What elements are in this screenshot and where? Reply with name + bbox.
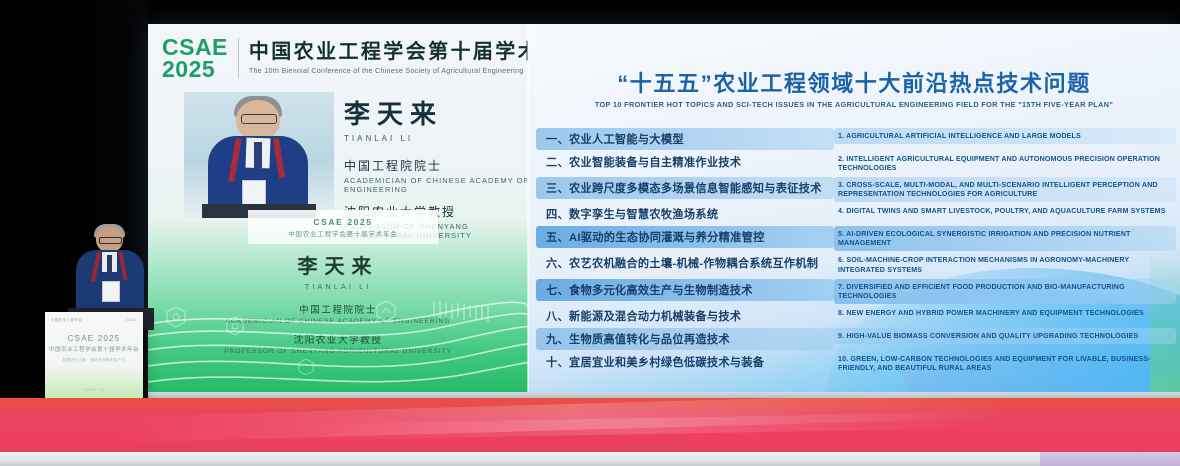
topic-cn: 三、农业跨尺度多模态多场景信息智能感知与表征技术 — [536, 177, 834, 199]
overlay-name-cn: 李天来 — [344, 94, 528, 131]
list-item: 二、农业智能装备与自主精准作业技术 2. INTELLIGENT AGRICUL… — [536, 151, 1176, 176]
topic-cn: 六、农艺农机融合的土壤-机械-作物耦合系统互作机制 — [536, 252, 834, 274]
topic-en: 3. CROSS-SCALE, MULTI-MODAL, AND MULTI-S… — [834, 177, 1176, 202]
topic-cn: 五、AI驱动的生态协同灌溉与养分精准管控 — [536, 226, 834, 248]
podium-mini-left: 中国农业工程学会 — [51, 318, 82, 323]
list-item: 一、农业人工智能与大模型 1. AGRICULTURAL ARTIFICIAL … — [536, 128, 1176, 150]
list-item: 四、数字孪生与智慧农牧渔场系统 4. DIGITAL TWINS AND SMA… — [536, 203, 1176, 225]
stage-front-edge — [0, 452, 1180, 466]
podium-mini-right: CSAE — [126, 318, 137, 323]
topic-en: 4. DIGITAL TWINS AND SMART LIVESTOCK, PO… — [834, 203, 1176, 219]
screen-panel-left: CSAE 2025 中国农业工程学会第十届学术年会 The 10th Bienn… — [148, 24, 528, 398]
conference-title-cn: 中国农业工程学会第十届学术年会 — [249, 42, 528, 63]
portrait-glasses — [241, 114, 277, 124]
credit-name-cn: 李天来 — [148, 250, 528, 279]
slide-title: “十五五”农业工程领域十大前沿热点技术问题 — [528, 66, 1180, 98]
topic-cn: 一、农业人工智能与大模型 — [536, 128, 834, 150]
led-screen-wall: CSAE 2025 中国农业工程学会第十届学术年会 The 10th Bienn… — [148, 24, 1180, 398]
topic-en: 5. AI-DRIVEN ECOLOGICAL SYNERGISTIC IRRI… — [834, 226, 1176, 251]
speaker-tie — [107, 255, 112, 273]
podium-line3: 智慧农业工程 · 赋能农业新质生产力 — [45, 358, 143, 363]
podium-line1: CSAE 2025 — [45, 334, 143, 343]
portrait-tie — [254, 142, 262, 168]
overlay-title1-cn: 中国工程院院士 — [344, 157, 528, 174]
hexagon-icon-bottom — [298, 358, 314, 376]
conference-title-en: The 10th Biennial Conference of the Chin… — [249, 66, 528, 75]
hexagon-icon-mid — [226, 316, 244, 336]
topic-en: 2. INTELLIGENT AGRICULTURAL EQUIPMENT AN… — [834, 151, 1176, 176]
conference-stage-photo: CSAE 2025 中国农业工程学会第十届学术年会 The 10th Bienn… — [0, 0, 1180, 466]
mid-card-line2: 中国农业工程学会第十届学术年会 — [288, 229, 397, 238]
list-item: 五、AI驱动的生态协同灌溉与养分精准管控 5. AI-DRIVEN ECOLOG… — [536, 226, 1176, 251]
topic-en: 8. NEW ENERGY AND HYBRID POWER MACHINERY… — [834, 305, 1176, 321]
list-item: 十、宜居宜业和美乡村绿色低碳技术与装备 10. GREEN, LOW-CARBO… — [536, 351, 1176, 376]
topic-en: 1. AGRICULTURAL ARTIFICIAL INTELLIGENCE … — [834, 128, 1176, 144]
topic-en: 7. DIVERSIFIED AND EFFICIENT FOOD PRODUC… — [834, 279, 1176, 304]
screen-panel-right: “十五五”农业工程领域十大前沿热点技术问题 TOP 10 FRONTIER HO… — [528, 24, 1180, 398]
speaker-portrait-photo — [184, 92, 334, 218]
speaker-glasses — [99, 237, 122, 244]
hexagon-icon-right — [376, 300, 396, 322]
podium-top-row: 中国农业工程学会 CSAE — [51, 318, 137, 323]
overlay-name-en: TIANLAI LI — [344, 134, 528, 143]
list-item: 三、农业跨尺度多模态多场景信息智能感知与表征技术 3. CROSS-SCALE,… — [536, 177, 1176, 202]
topic-en: 10. GREEN, LOW-CARBON TECHNOLOGIES AND E… — [834, 351, 1176, 376]
speaker-name-badge — [102, 281, 120, 302]
list-item: 六、农艺农机融合的土壤-机械-作物耦合系统互作机制 6. SOIL-MACHIN… — [536, 252, 1176, 277]
list-item: 八、新能源及混合动力机械装备与技术 8. NEW ENERGY AND HYBR… — [536, 305, 1176, 327]
screen-panel-seam — [527, 24, 529, 398]
terraced-field-graphic — [148, 278, 528, 398]
topic-en: 9. HIGH-VALUE BIOMASS CONVERSION AND QUA… — [834, 328, 1176, 344]
csae-logo-lockup: CSAE 2025 中国农业工程学会第十届学术年会 The 10th Bienn… — [162, 36, 528, 80]
slide-subtitle: TOP 10 FRONTIER HOT TOPICS AND SCI-TECH … — [554, 100, 1154, 109]
logo-divider — [238, 38, 239, 78]
podium-line4: 2025年11月 — [45, 388, 143, 393]
stage-front-edge-right — [1040, 452, 1180, 466]
hexagon-icon-left — [166, 306, 186, 328]
topic-cn: 四、数字孪生与智慧农牧渔场系统 — [536, 203, 834, 225]
csae-acronym: CSAE — [162, 36, 228, 58]
overlay-title1-en: ACADEMICIAN OF CHINESE ACADEMY OF ENGINE… — [344, 176, 528, 194]
topic-cn: 十、宜居宜业和美乡村绿色低碳技术与装备 — [536, 351, 834, 373]
topics-list: 一、农业人工智能与大模型 1. AGRICULTURAL ARTIFICIAL … — [536, 128, 1176, 377]
topic-cn: 二、农业智能装备与自主精准作业技术 — [536, 151, 834, 173]
topic-cn: 九、生物质高值转化与品位再造技术 — [536, 328, 834, 350]
list-item: 九、生物质高值转化与品位再造技术 9. HIGH-VALUE BIOMASS C… — [536, 328, 1176, 350]
topic-en: 6. SOIL-MACHINE-CROP INTERACTION MECHANI… — [834, 252, 1176, 277]
topic-cn: 八、新能源及混合动力机械装备与技术 — [536, 305, 834, 327]
list-item: 七、食物多元化高效生产与生物制造技术 7. DIVERSIFIED AND EF… — [536, 279, 1176, 304]
csae-logo-mark: CSAE 2025 — [162, 36, 228, 80]
topic-cn: 七、食物多元化高效生产与生物制造技术 — [536, 279, 834, 301]
mid-card-line1: CSAE 2025 — [313, 217, 372, 227]
mid-conference-card: CSAE 2025 中国农业工程学会第十届学术年会 — [248, 210, 438, 244]
podium-line2: 中国农业工程学会第十届学术年会 — [45, 345, 143, 353]
csae-year: 2025 — [162, 58, 228, 80]
